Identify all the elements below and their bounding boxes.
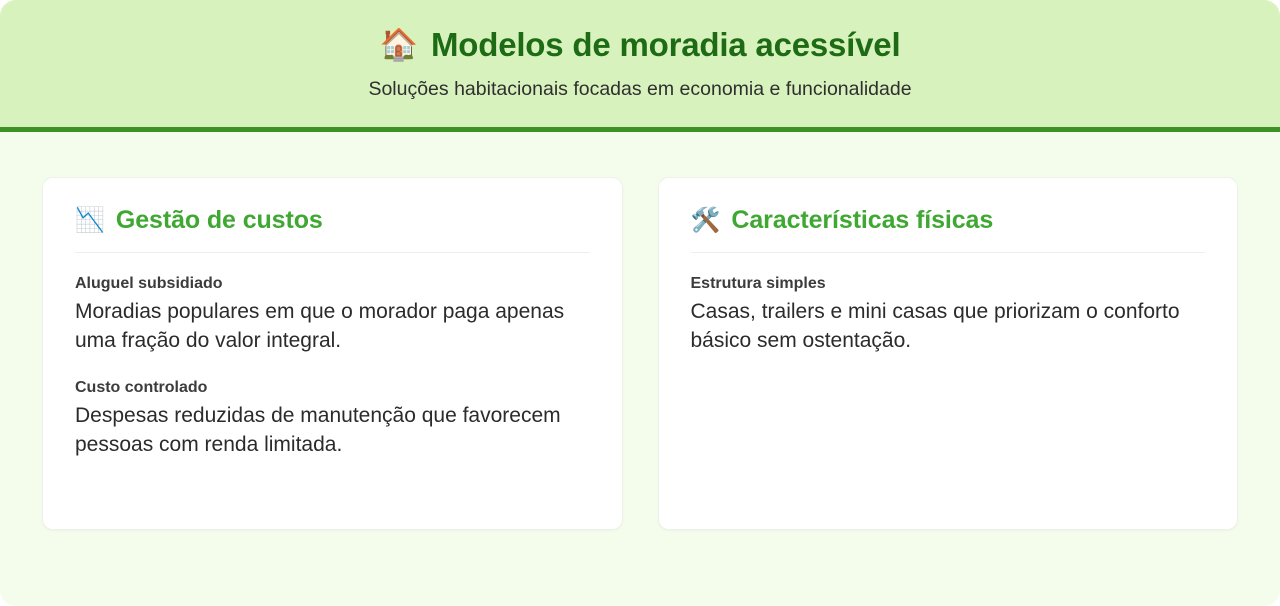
- card-header: 📉 Gestão de custos: [75, 206, 590, 253]
- entry-term: Aluguel subsidiado: [75, 274, 590, 295]
- list-item: Aluguel subsidiado Moradias populares em…: [75, 274, 590, 356]
- house-icon: 🏠: [380, 29, 418, 60]
- chart-decreasing-icon: 📉: [75, 209, 105, 233]
- page-subtitle: Soluções habitacionais focadas em econom…: [20, 77, 1260, 101]
- card-body: Aluguel subsidiado Moradias populares em…: [75, 253, 590, 459]
- entry-term: Estrutura simples: [691, 274, 1206, 295]
- page-title: 🏠 Modelos de moradia acessível: [20, 26, 1260, 64]
- card-header: 🛠️ Características físicas: [691, 206, 1206, 253]
- entry-description: Despesas reduzidas de manutenção que fav…: [75, 402, 590, 460]
- content-panel: 🏠 Modelos de moradia acessível Soluções …: [0, 0, 1280, 606]
- card-gestao-de-custos: 📉 Gestão de custos Aluguel subsidiado Mo…: [42, 177, 623, 530]
- page-header: 🏠 Modelos de moradia acessível Soluções …: [0, 0, 1280, 132]
- entry-term: Custo controlado: [75, 378, 590, 399]
- card-title: Gestão de custos: [116, 206, 323, 235]
- cards-container: 📉 Gestão de custos Aluguel subsidiado Mo…: [0, 132, 1280, 606]
- entry-description: Casas, trailers e mini casas que prioriz…: [691, 298, 1206, 356]
- card-caracteristicas-fisicas: 🛠️ Características físicas Estrutura sim…: [658, 177, 1239, 530]
- hammer-and-wrench-icon: 🛠️: [691, 209, 721, 233]
- list-item: Custo controlado Despesas reduzidas de m…: [75, 378, 590, 460]
- page-title-text: Modelos de moradia acessível: [431, 26, 900, 64]
- entry-description: Moradias populares em que o morador paga…: [75, 298, 590, 356]
- card-title: Características físicas: [731, 206, 993, 235]
- list-item: Estrutura simples Casas, trailers e mini…: [691, 274, 1206, 356]
- page-root: 🏠 Modelos de moradia acessível Soluções …: [0, 0, 1280, 606]
- card-body: Estrutura simples Casas, trailers e mini…: [691, 253, 1206, 356]
